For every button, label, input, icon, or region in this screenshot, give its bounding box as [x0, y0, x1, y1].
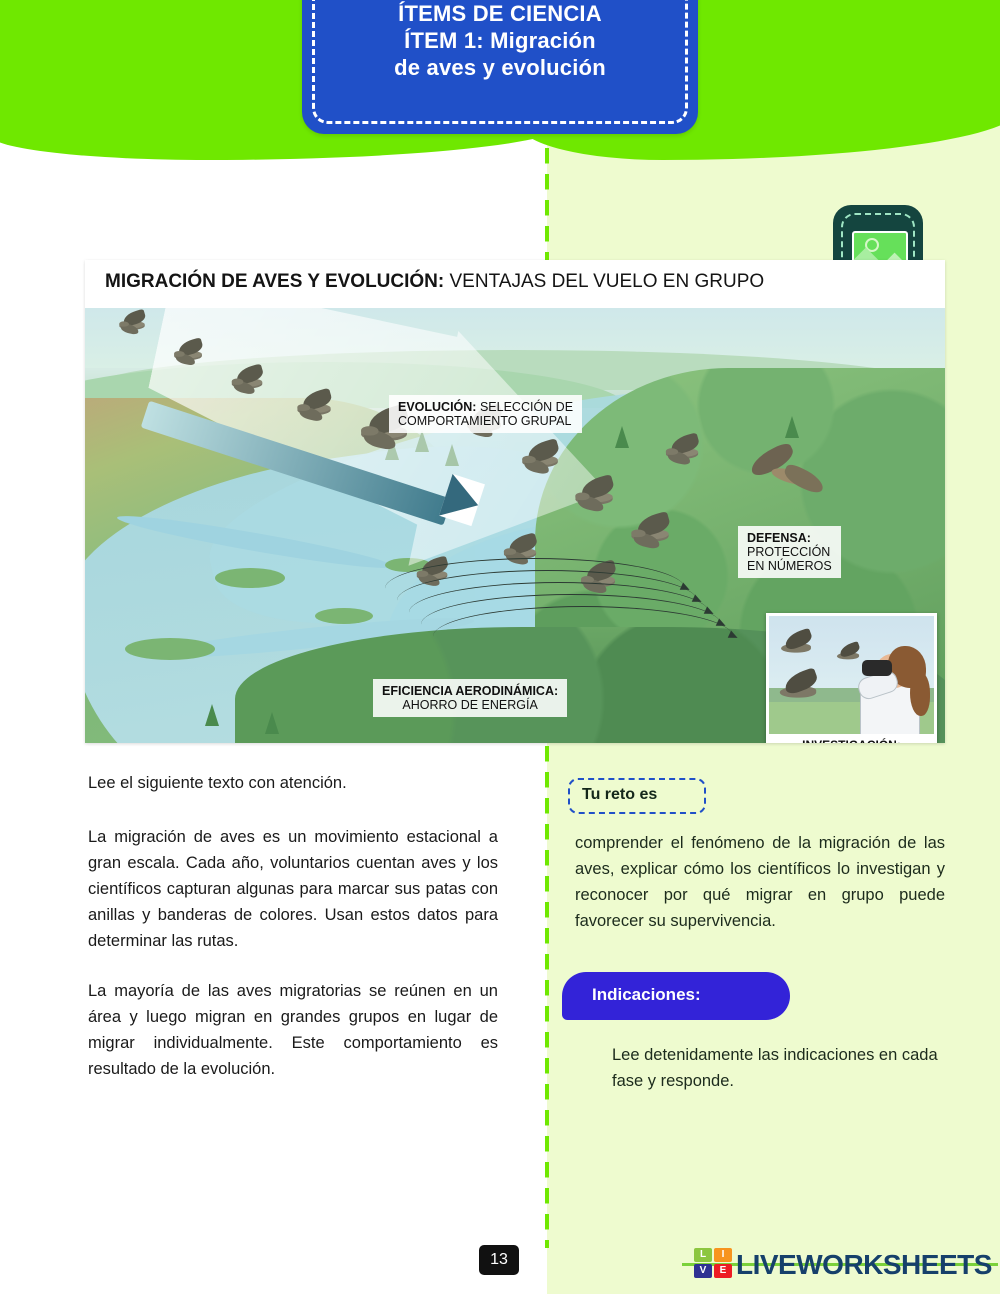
title-line-1: ÍTEMS DE CIENCIA	[302, 0, 698, 27]
challenge-badge: Tu reto es	[568, 778, 706, 814]
intro-instruction: Lee el siguiente texto con atención.	[88, 770, 498, 796]
logo-tile-l: L	[694, 1248, 712, 1262]
goose	[575, 492, 612, 504]
scene-conifer	[615, 426, 629, 448]
label-defensa-line2: PROTECCIÓN	[747, 545, 830, 559]
liveworksheets-logo: L I V E LIVEWORKSHEETS	[690, 1246, 990, 1280]
binoculars-icon	[862, 660, 892, 676]
title-text: ÍTEMS DE CIENCIA ÍTEM 1: Migración de av…	[302, 0, 698, 81]
goose	[666, 448, 698, 458]
challenge-text: comprender el fenómeno de la migración d…	[575, 830, 945, 934]
left-text-column: Lee el siguiente texto con atención. La …	[88, 770, 498, 1106]
inset-bird	[780, 686, 816, 697]
label-evolucion-bold: EVOLUCIÓN:	[398, 400, 476, 414]
title-line-2: ÍTEM 1: Migración	[302, 27, 698, 54]
scene-islet	[125, 638, 215, 660]
instructions-badge: Indicaciones:	[562, 972, 790, 1020]
label-eficiencia-bold: EFICIENCIA AERODINÁMICA:	[382, 684, 558, 698]
scene-islet	[215, 568, 285, 588]
page-number-badge: 13	[479, 1245, 519, 1275]
label-eficiencia-line2: AHORRO DE ENERGÍA	[402, 698, 537, 712]
logo-tile-v: V	[694, 1264, 712, 1278]
inset-caption: INVESTIGACIÓN: CONTEO Y MARCADO	[769, 734, 934, 743]
logo-tile-e: E	[714, 1264, 732, 1278]
illustration-panel: MIGRACIÓN DE AVES Y EVOLUCIÓN: VENTAJAS …	[85, 260, 945, 743]
goose	[504, 548, 536, 558]
label-eficiencia: EFICIENCIA AERODINÁMICA: AHORRO DE ENERG…	[373, 679, 567, 717]
illustration-title: MIGRACIÓN DE AVES Y EVOLUCIÓN: VENTAJAS …	[105, 271, 764, 293]
inset-photo: INVESTIGACIÓN: CONTEO Y MARCADO	[766, 613, 937, 743]
scene-islet	[315, 608, 373, 624]
label-defensa-bold: DEFENSA:	[747, 531, 811, 545]
illustration-header: MIGRACIÓN DE AVES Y EVOLUCIÓN: VENTAJAS …	[85, 260, 945, 308]
logo-wordmark: LIVEWORKSHEETS	[736, 1249, 992, 1281]
scene-conifer	[205, 704, 219, 726]
arrow-head	[439, 474, 485, 526]
challenge-badge-label: Tu reto es	[582, 786, 657, 804]
goose	[631, 529, 668, 541]
goose	[232, 379, 263, 389]
logo-tiles: L I V E	[694, 1248, 734, 1278]
title-line-3: de aves y evolución	[302, 54, 698, 81]
illustration-title-bold: MIGRACIÓN DE AVES Y EVOLUCIÓN:	[105, 271, 444, 292]
inset-researcher	[854, 638, 932, 736]
scene-conifer	[265, 712, 279, 734]
raptor-bird	[745, 448, 835, 502]
logo-tile-i: I	[714, 1248, 732, 1262]
label-defensa-line3: EN NÚMEROS	[747, 559, 832, 573]
label-evolucion-rest: SELECCIÓN DE	[476, 400, 573, 414]
body-paragraph-2: La mayoría de las aves migratorias se re…	[88, 978, 498, 1082]
inset-bird	[781, 643, 811, 652]
instructions-text: Lee detenidamente las indicaciones en ca…	[612, 1042, 952, 1094]
goose	[297, 404, 330, 415]
body-paragraph-1: La migración de aves es un movimiento es…	[88, 824, 498, 954]
worksheet-page: ÍTEMS DE CIENCIA ÍTEM 1: Migración de av…	[0, 0, 1000, 1294]
goose	[119, 321, 145, 329]
inset-caption-bold: INVESTIGACIÓN:	[769, 738, 934, 743]
label-evolucion-line2: COMPORTAMIENTO GRUPAL	[398, 414, 571, 428]
goose	[522, 456, 558, 468]
label-defensa: DEFENSA: PROTECCIÓN EN NÚMEROS	[738, 526, 841, 578]
researcher-ponytail	[910, 672, 930, 716]
illustration-scene: EVOLUCIÓN: SELECCIÓN DE COMPORTAMIENTO G…	[85, 308, 945, 743]
scene-migration-arrow	[145, 356, 545, 546]
illustration-title-rest: VENTAJAS DEL VUELO EN GRUPO	[444, 271, 764, 292]
title-badge: ÍTEMS DE CIENCIA ÍTEM 1: Migración de av…	[302, 0, 698, 134]
goose	[174, 351, 202, 360]
scene-conifer	[785, 416, 799, 438]
label-evolucion: EVOLUCIÓN: SELECCIÓN DE COMPORTAMIENTO G…	[389, 395, 582, 433]
instructions-badge-label: Indicaciones:	[592, 985, 701, 1005]
